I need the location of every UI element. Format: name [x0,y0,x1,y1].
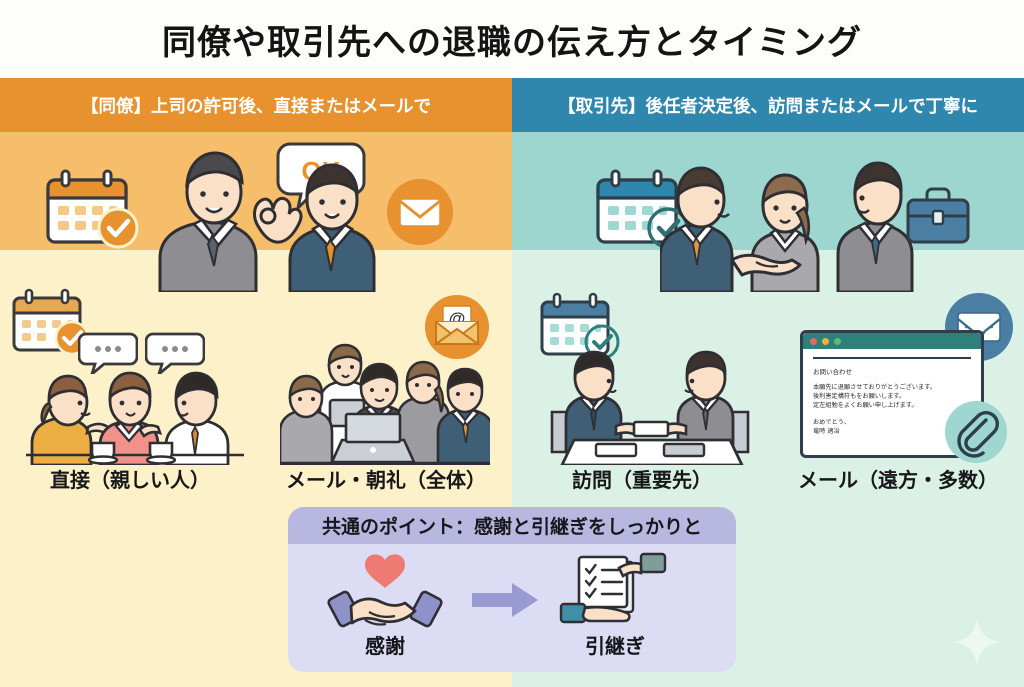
page-title: 同僚や取引先への退職の伝え方とタイミング [0,0,1024,78]
illustration-handshake-successor [660,138,930,292]
illustration-manager-approves: OK [140,140,390,292]
cell-label-visit: 訪問（重要先） [514,464,770,493]
window-titlebar [803,333,981,349]
common-point-heading-text: 共通のポイント：感謝と引継ぎをしっかりと [322,512,702,539]
document-handover-icon [555,550,675,632]
common-point-caption-handover: 引継ぎ [540,630,690,659]
envelope-icon [386,178,454,246]
briefcase-icon [902,184,974,246]
cell-label-email-all: メール・朝礼（全体） [258,464,514,493]
email-subject: お問い合わせ [813,366,971,376]
common-point-item-handover [540,550,690,637]
illustration-team-meeting [280,340,490,465]
divider [813,357,971,359]
section-header-clients-label: 【取引先】後任者決定後、訪問またはメールで丁寧に [558,93,978,118]
maximize-icon[interactable] [834,338,841,345]
illustration-business-card-exchange [546,340,756,465]
section-header-colleagues-label: 【同僚】上司の許可後、直接またはメールで [81,93,431,118]
common-point-body: 感謝 引継ぎ [288,544,736,672]
minimize-icon[interactable] [822,338,829,345]
cell-label-direct: 直接（親しい人） [2,464,258,493]
calendar-check-icon [40,168,150,250]
common-point-box: 共通のポイント：感謝と引継ぎをしっかりと [288,507,736,672]
sparkle-icon [954,619,1000,665]
email-body-line: 本願先に退願させておりがとうございます。 [813,383,971,392]
infographic-canvas: 同僚や取引先への退職の伝え方とタイミング 【同僚】上司の許可後、直接またはメール… [0,0,1024,687]
common-point-caption-gratitude: 感謝 [310,630,460,659]
arrow-right-icon [470,580,540,620]
section-header-clients: 【取引先】後任者決定後、訪問またはメールで丁寧に [512,78,1024,132]
illustration-coffee-conversation [26,355,244,465]
paperclip-icon [944,400,1008,464]
page-title-text: 同僚や取引先への退職の伝え方とタイミング [162,15,862,64]
cell-label-email-far: メール（遠方・多数） [770,464,1024,493]
common-point-item-gratitude [310,550,460,637]
section-header-colleagues: 【同僚】上司の許可後、直接またはメールで [0,78,512,132]
handshake-heart-icon [325,550,445,632]
common-point-heading: 共通のポイント：感謝と引継ぎをしっかりと [288,507,736,544]
close-icon[interactable] [810,338,817,345]
